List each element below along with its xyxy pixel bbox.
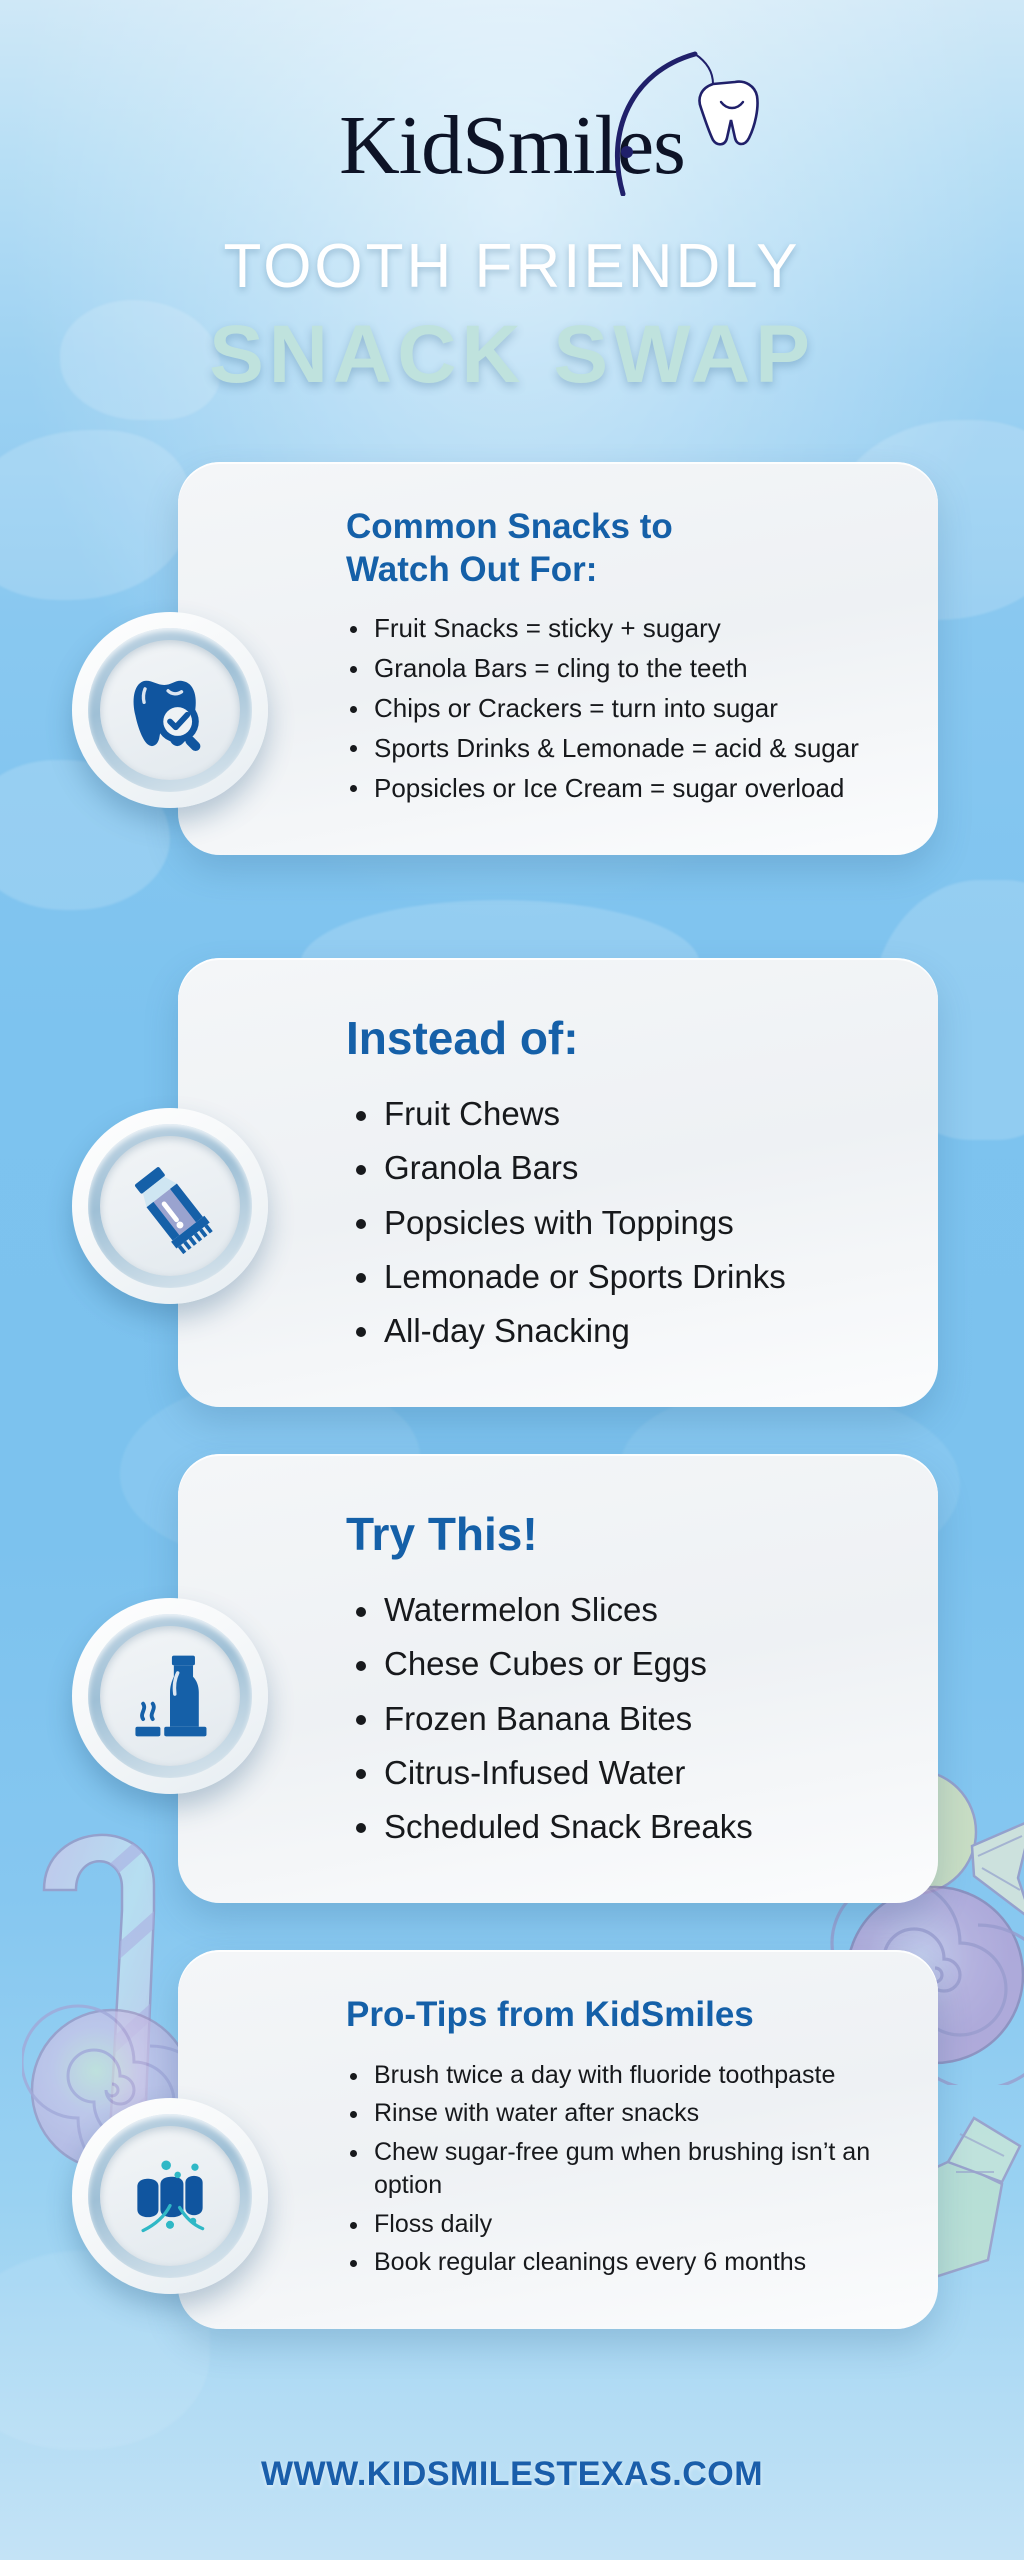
card-title: Instead of: [346,1010,882,1066]
card-list: Fruit Snacks = sticky + sugary Granola B… [346,611,882,805]
card-title: Common Snacks to Watch Out For: [346,506,776,591]
card-list: Fruit Chews Granola Bars Popsicles with … [346,1092,882,1353]
website-url-link[interactable]: WWW.KIDSMILESTEXAS.COM [261,2455,763,2493]
page-title: TOOTH FRIENDLY SNACK SWAP [0,236,1024,396]
list-item: Rinse with water after snacks [346,2097,882,2131]
card-title: Try This! [346,1506,882,1562]
tooth-on-floss-icon [609,46,789,196]
list-item: Book regular cleanings every 6 months [346,2246,882,2280]
list-item: Chew sugar-free gum when brushing isn’t … [346,2136,882,2203]
tooth-magnifier-check-icon [122,662,218,758]
list-item: Granola Bars [346,1146,882,1190]
list-item: Brush twice a day with fluoride toothpas… [346,2059,882,2093]
list-item: Lemonade or Sports Drinks [346,1255,882,1299]
list-item: All-day Snacking [346,1309,882,1353]
list-item: Chips or Crackers = turn into sugar [346,691,882,726]
headline-line-2: SNACK SWAP [0,314,1024,396]
list-item: Granola Bars = cling to the teeth [346,651,882,686]
list-item: Popsicles with Toppings [346,1201,882,1245]
list-item: Citrus-Infused Water [346,1751,882,1795]
list-item: Frozen Banana Bites [346,1697,882,1741]
card-try-this: Try This! Watermelon Slices Chese Cubes … [178,1454,938,1903]
toothpaste-tube-icon [122,1158,218,1254]
medallion-instead-of [72,1108,268,1304]
list-item: Watermelon Slices [346,1588,882,1632]
card-common-snacks: Common Snacks to Watch Out For: Fruit Sn… [178,462,938,855]
medallion-common-snacks [72,612,268,808]
card-instead-of: Instead of: Fruit Chews Granola Bars Pop… [178,958,938,1407]
list-item: Scheduled Snack Breaks [346,1805,882,1849]
card-list: Brush twice a day with fluoride toothpas… [346,2059,882,2280]
list-item: Sports Drinks & Lemonade = acid & sugar [346,731,882,766]
water-bottle-icon [122,1648,218,1744]
medallion-pro-tips [72,2098,268,2294]
list-item: Floss daily [346,2208,882,2242]
card-list: Watermelon Slices Chese Cubes or Eggs Fr… [346,1588,882,1849]
footer: WWW.KIDSMILESTEXAS.COM [0,2455,1024,2494]
clean-teeth-sparkle-icon [122,2148,218,2244]
headline-line-1: TOOTH FRIENDLY [0,236,1024,298]
list-item: Chese Cubes or Eggs [346,1642,882,1686]
brand-logo: KidSmiles [0,78,1024,188]
list-item: Fruit Snacks = sticky + sugary [346,611,882,646]
list-item: Popsicles or Ice Cream = sugar overload [346,771,882,806]
medallion-try-this [72,1598,268,1794]
list-item: Fruit Chews [346,1092,882,1136]
card-pro-tips: Pro-Tips from KidSmiles Brush twice a da… [178,1950,938,2329]
card-title: Pro-Tips from KidSmiles [346,1994,882,2037]
